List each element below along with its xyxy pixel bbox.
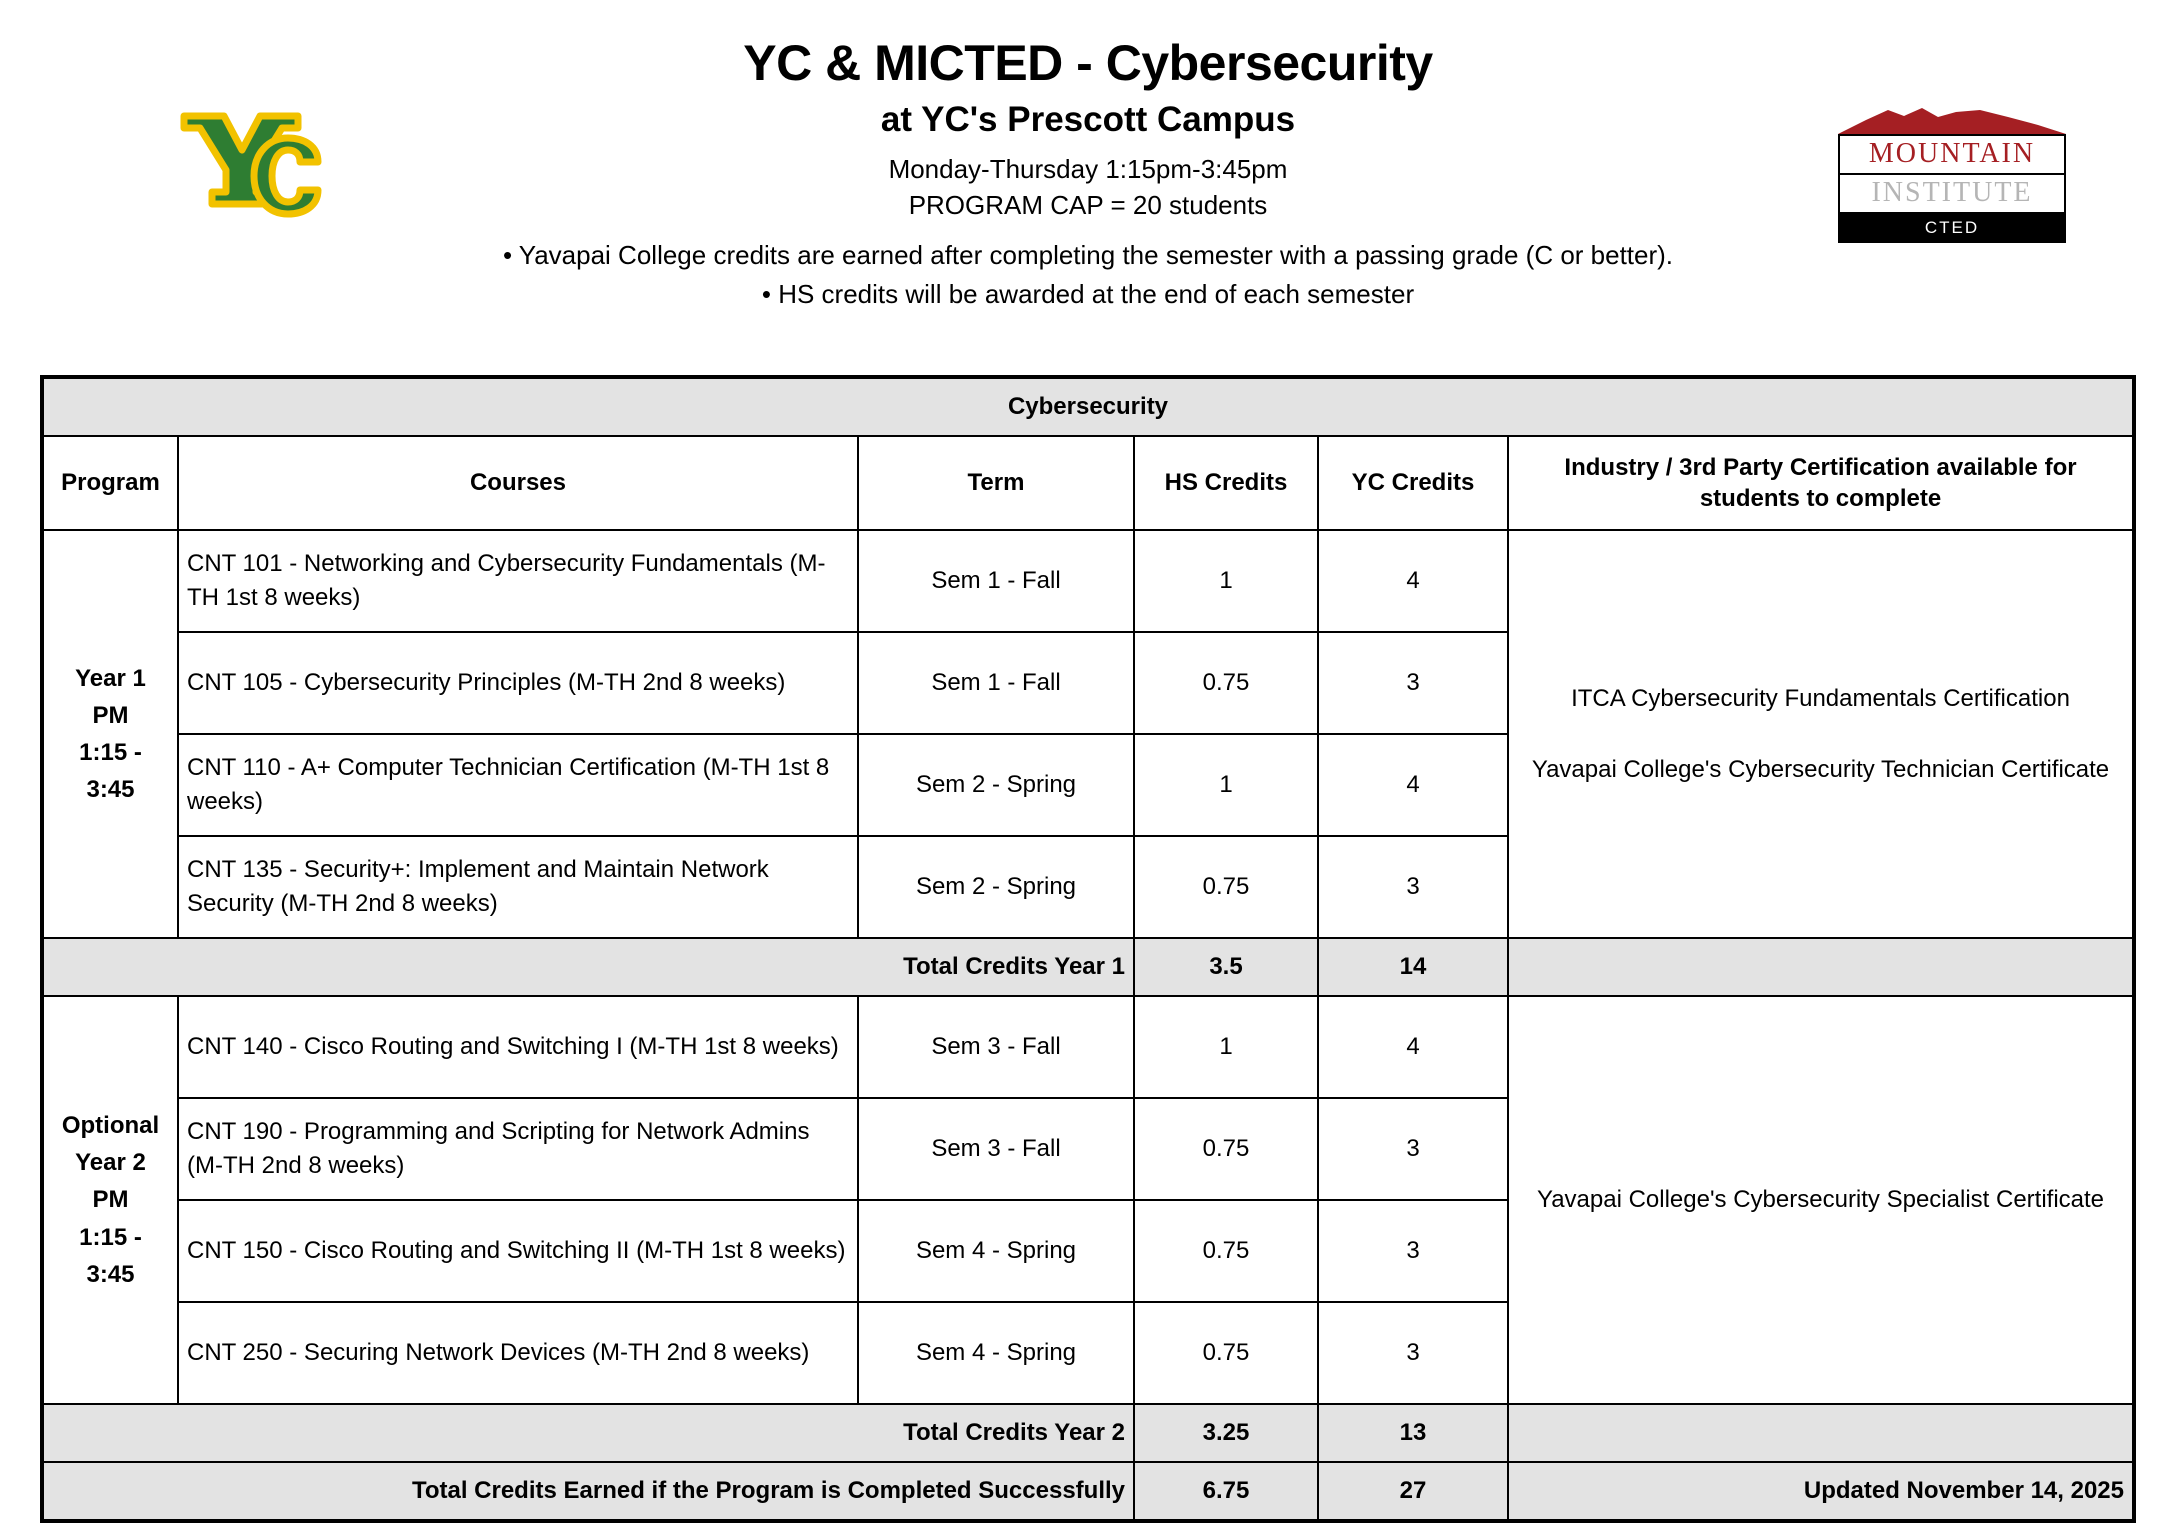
document-page: MOUNTAIN INSTITUTE CTED YC & MICTED - Cy… [0, 0, 2176, 1491]
hs-credits-value: 0.75 [1134, 836, 1318, 938]
certification-cell-year1: ITCA Cybersecurity Fundamentals Certific… [1508, 530, 2134, 938]
column-header-hs-credits: HS Credits [1134, 436, 1318, 530]
course-name: CNT 105 - Cybersecurity Principles (M-TH… [178, 632, 858, 734]
grand-total-row: Total Credits Earned if the Program is C… [42, 1462, 2134, 1521]
certification-line: Yavapai College's Cybersecurity Technici… [1532, 756, 2109, 783]
logo-text-mountain: MOUNTAIN [1840, 136, 2064, 175]
table-row: Optional Year 2 PM 1:15 - 3:45 CNT 140 -… [42, 996, 2134, 1098]
hs-credits-value: 1 [1134, 996, 1318, 1098]
updated-date: Updated November 14, 2025 [1508, 1462, 2134, 1521]
yavapai-college-logo [178, 106, 338, 226]
spacer [1517, 717, 2124, 751]
program-line: Year 1 [75, 665, 146, 692]
course-name: CNT 250 - Securing Network Devices (M-TH… [178, 1302, 858, 1404]
column-header-program: Program [42, 436, 178, 530]
schedule-table-wrapper: Cybersecurity Program Courses Term HS Cr… [0, 375, 2176, 1523]
column-header-certification: Industry / 3rd Party Certification avail… [1508, 436, 2134, 530]
mountain-institute-cted-logo: MOUNTAIN INSTITUTE CTED [1838, 108, 2066, 208]
total-row-year2: Total Credits Year 2 3.25 13 [42, 1404, 2134, 1462]
course-name: CNT 190 - Programming and Scripting for … [178, 1098, 858, 1200]
hs-credits-value: 1 [1134, 530, 1318, 632]
yc-credits-value: 3 [1318, 1302, 1508, 1404]
course-name: CNT 110 - A+ Computer Technician Certifi… [178, 734, 858, 836]
course-term: Sem 2 - Spring [858, 836, 1134, 938]
table-banner-title: Cybersecurity [42, 377, 2134, 436]
course-term: Sem 1 - Fall [858, 530, 1134, 632]
grand-total-label: Total Credits Earned if the Program is C… [42, 1462, 1134, 1521]
total-yc-year1: 14 [1318, 938, 1508, 996]
total-blank-year1 [1508, 938, 2134, 996]
hs-credits-value: 0.75 [1134, 1302, 1318, 1404]
total-row-year1: Total Credits Year 1 3.5 14 [42, 938, 2134, 996]
table-row: Year 1 PM 1:15 - 3:45 CNT 101 - Networki… [42, 530, 2134, 632]
course-name: CNT 135 - Security+: Implement and Maint… [178, 836, 858, 938]
note-bullet-1: • Yavapai College credits are earned aft… [0, 238, 2176, 272]
yc-credits-value: 3 [1318, 1098, 1508, 1200]
course-term: Sem 4 - Spring [858, 1302, 1134, 1404]
course-term: Sem 4 - Spring [858, 1200, 1134, 1302]
program-line: PM [93, 702, 129, 729]
total-yc-year2: 13 [1318, 1404, 1508, 1462]
program-line: 1:15 - 3:45 [79, 739, 142, 803]
table-header-row: Program Courses Term HS Credits YC Credi… [42, 436, 2134, 530]
program-line: Year 2 [75, 1149, 146, 1176]
course-term: Sem 2 - Spring [858, 734, 1134, 836]
table-banner-row: Cybersecurity [42, 377, 2134, 436]
hs-credits-value: 0.75 [1134, 1098, 1318, 1200]
program-cell-year1: Year 1 PM 1:15 - 3:45 [42, 530, 178, 938]
yc-credits-value: 4 [1318, 996, 1508, 1098]
yc-credits-value: 3 [1318, 836, 1508, 938]
total-blank-year2 [1508, 1404, 2134, 1462]
document-header: MOUNTAIN INSTITUTE CTED YC & MICTED - Cy… [0, 0, 2176, 375]
course-name: CNT 101 - Networking and Cybersecurity F… [178, 530, 858, 632]
yc-credits-value: 3 [1318, 1200, 1508, 1302]
mountain-peaks-icon [1838, 108, 2066, 134]
program-schedule-table: Cybersecurity Program Courses Term HS Cr… [40, 375, 2136, 1523]
column-header-courses: Courses [178, 436, 858, 530]
program-line: 1:15 - 3:45 [79, 1224, 142, 1288]
yc-credits-value: 4 [1318, 530, 1508, 632]
yc-credits-value: 4 [1318, 734, 1508, 836]
total-hs-year1: 3.5 [1134, 938, 1318, 996]
column-header-yc-credits: YC Credits [1318, 436, 1508, 530]
program-line: PM [93, 1186, 129, 1213]
note-bullet-2: • HS credits will be awarded at the end … [0, 277, 2176, 311]
program-line: Optional [62, 1112, 159, 1139]
mountain-institute-nameplate: MOUNTAIN INSTITUTE [1838, 134, 2066, 214]
total-hs-year2: 3.25 [1134, 1404, 1318, 1462]
hs-credits-value: 1 [1134, 734, 1318, 836]
logo-text-cted: CTED [1838, 214, 2066, 243]
column-header-term: Term [858, 436, 1134, 530]
total-label-year2: Total Credits Year 2 [42, 1404, 1134, 1462]
course-term: Sem 3 - Fall [858, 996, 1134, 1098]
certification-line: ITCA Cybersecurity Fundamentals Certific… [1571, 685, 2070, 712]
yc-credits-value: 3 [1318, 632, 1508, 734]
grand-total-hs: 6.75 [1134, 1462, 1318, 1521]
logo-text-institute: INSTITUTE [1840, 175, 2064, 212]
hs-credits-value: 0.75 [1134, 632, 1318, 734]
course-name: CNT 140 - Cisco Routing and Switching I … [178, 996, 858, 1098]
course-term: Sem 1 - Fall [858, 632, 1134, 734]
certification-cell-year2: Yavapai College's Cybersecurity Speciali… [1508, 996, 2134, 1404]
page-title: YC & MICTED - Cybersecurity [0, 36, 2176, 90]
course-term: Sem 3 - Fall [858, 1098, 1134, 1200]
hs-credits-value: 0.75 [1134, 1200, 1318, 1302]
total-label-year1: Total Credits Year 1 [42, 938, 1134, 996]
program-cell-year2: Optional Year 2 PM 1:15 - 3:45 [42, 996, 178, 1404]
course-name: CNT 150 - Cisco Routing and Switching II… [178, 1200, 858, 1302]
grand-total-yc: 27 [1318, 1462, 1508, 1521]
